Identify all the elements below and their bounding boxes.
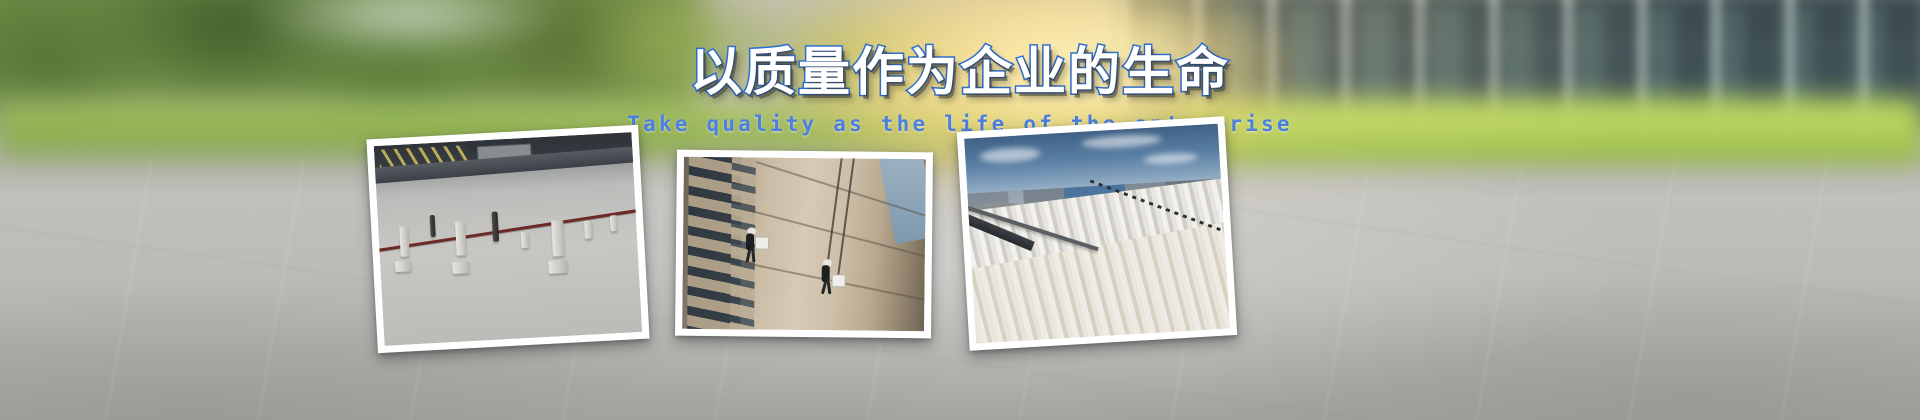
- banner-headline: 以质量作为企业的生命: [690, 46, 1230, 101]
- promo-banner: 以质量作为企业的生命 Take quality as the life of t…: [0, 0, 1920, 420]
- red-pipeline: [374, 208, 642, 252]
- pipe-stub: [610, 215, 618, 231]
- facade-scene: [682, 157, 926, 332]
- paint-bucket: [831, 274, 845, 287]
- paint-bucket: [754, 236, 768, 249]
- flat-roof-scene: [374, 132, 642, 346]
- sky-patch: [878, 157, 926, 245]
- pipe-stub: [399, 226, 410, 256]
- photo-facade-rope-access[interactable]: [675, 150, 933, 339]
- worker-leg: [751, 249, 755, 262]
- pipe-base: [548, 260, 568, 274]
- photo-flat-roof-waterproofing[interactable]: [366, 125, 649, 353]
- worker-body: [745, 233, 753, 250]
- pipe-stub: [521, 232, 530, 248]
- photo-1-image: [374, 132, 642, 346]
- pipe-stub: [585, 220, 594, 238]
- photo-metal-industrial-roof[interactable]: [957, 116, 1238, 351]
- pipe-base: [396, 260, 413, 272]
- pipe-stub: [551, 220, 565, 257]
- headline-container: 以质量作为企业的生命: [0, 46, 1920, 101]
- photo-2-image: [682, 157, 926, 332]
- pipe-stub: [455, 221, 467, 255]
- metal-roof-scene: [964, 124, 1230, 344]
- worker-body: [822, 265, 830, 282]
- pipe-stub: [429, 215, 435, 237]
- pipe-base: [452, 261, 470, 274]
- pipe-stub: [491, 212, 499, 242]
- photo-3-image: [964, 124, 1230, 344]
